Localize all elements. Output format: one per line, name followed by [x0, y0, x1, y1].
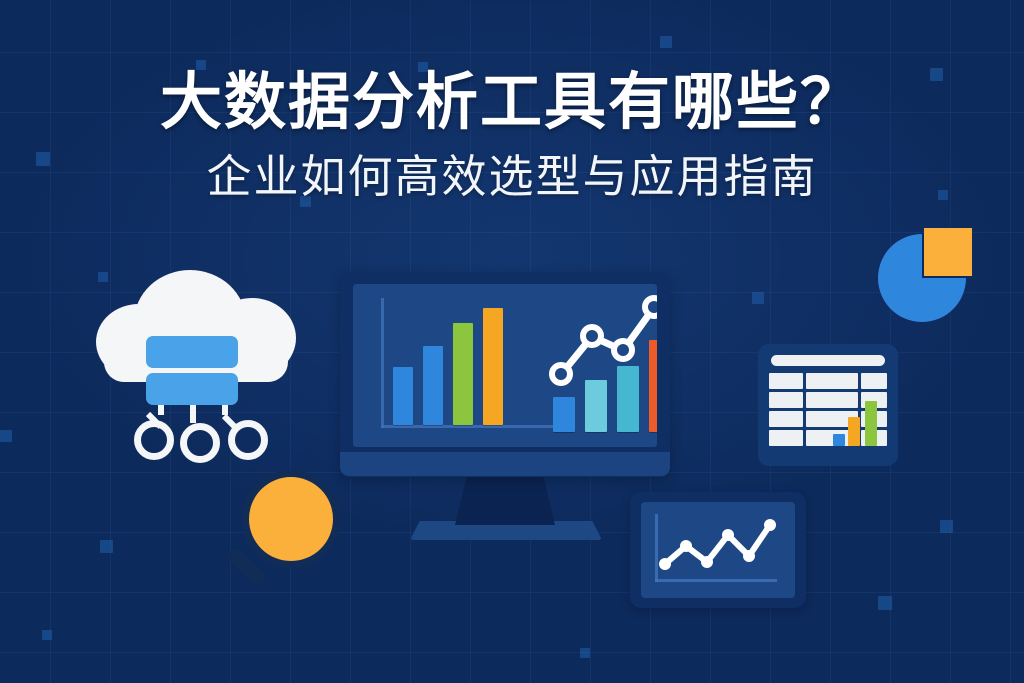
- tablet-line-node: [659, 558, 671, 570]
- decorative-square: [42, 630, 52, 640]
- table-cell: [769, 411, 803, 427]
- tablet-line-node: [764, 519, 776, 531]
- page-subtitle: 企业如何高效选型与应用指南: [0, 151, 1024, 203]
- tablet-line-node: [680, 540, 692, 552]
- decorative-square: [100, 540, 113, 553]
- table-cell: [769, 373, 803, 389]
- monitor-neck: [455, 475, 555, 525]
- table-cell: [769, 392, 803, 408]
- network-node-center-icon: [180, 423, 220, 463]
- table-mini-bar: [865, 401, 877, 446]
- line-node-marker: [611, 338, 635, 362]
- table-cell: [806, 373, 858, 389]
- chart-y-axis: [381, 298, 384, 428]
- node-stem-center: [190, 405, 196, 423]
- title-block: 大数据分析工具有哪些？ 企业如何高效选型与应用指南: [0, 68, 1024, 202]
- decorative-square: [660, 36, 672, 48]
- magnifier-lens: [242, 470, 340, 568]
- table-cell: [769, 430, 803, 446]
- table-header-bar: [771, 355, 885, 366]
- decorative-square: [752, 292, 764, 304]
- bar: [617, 366, 639, 432]
- monitor-screen: [353, 284, 657, 447]
- decorative-square: [580, 648, 590, 658]
- tablet-screen: [641, 502, 795, 598]
- table-cell: [861, 373, 887, 389]
- decorative-square: [940, 520, 953, 533]
- bar: [553, 397, 575, 432]
- table-grid: [769, 355, 887, 455]
- monitor-bezel: [340, 272, 670, 477]
- page-title: 大数据分析工具有哪些？: [0, 68, 1024, 139]
- network-node-right-icon: [228, 420, 268, 460]
- bar: [453, 323, 473, 425]
- tablet-line-node: [722, 529, 734, 541]
- network-node-left-icon: [134, 420, 174, 460]
- pie-chart-icon: [878, 228, 974, 324]
- tablet-x-axis: [655, 579, 777, 582]
- bar: [585, 380, 607, 432]
- database-layer-top: [146, 336, 238, 368]
- table-mini-bar: [848, 417, 860, 446]
- bar: [393, 367, 413, 425]
- bar: [483, 308, 503, 425]
- line-node-marker: [549, 362, 573, 386]
- tablet-line-node: [701, 556, 713, 568]
- database-layer-bottom: [146, 373, 238, 405]
- monitor-chin: [340, 452, 670, 476]
- tablet-device: [630, 492, 806, 608]
- tablet-line-node: [743, 550, 755, 562]
- tablet-y-axis: [655, 514, 658, 582]
- table-mini-bar: [833, 434, 845, 446]
- cloud-database-icon: [96, 268, 296, 460]
- poster-canvas: 大数据分析工具有哪些？ 企业如何高效选型与应用指南: [0, 0, 1024, 683]
- node-stem-left-v: [158, 405, 164, 415]
- table-cell: [806, 392, 858, 408]
- chart-x-axis: [381, 425, 571, 428]
- decorative-square: [0, 430, 12, 442]
- pie-slice-secondary: [924, 228, 972, 276]
- line-node-marker: [580, 324, 604, 348]
- desktop-monitor: [340, 272, 670, 562]
- decorative-square: [878, 596, 892, 610]
- bar: [423, 346, 443, 425]
- bar: [649, 340, 657, 432]
- data-table-icon: [758, 344, 898, 466]
